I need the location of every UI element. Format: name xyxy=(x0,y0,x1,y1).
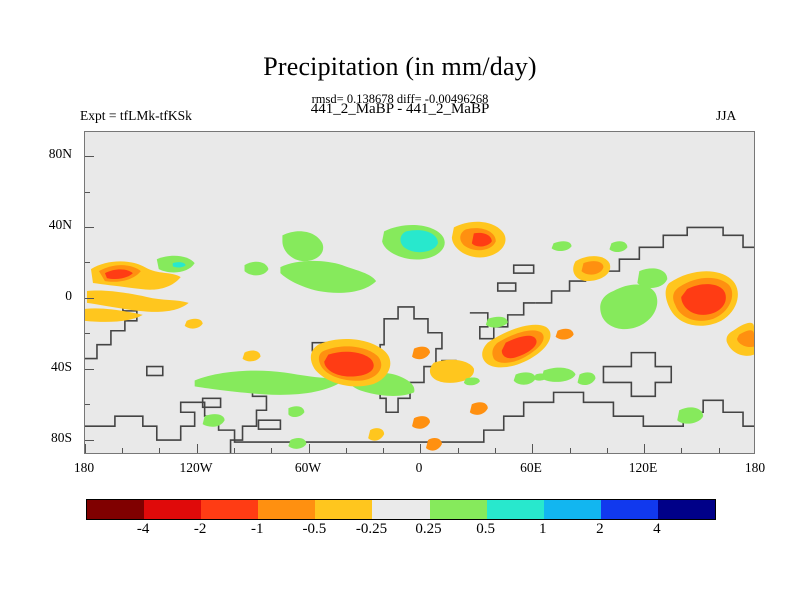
x-axis-label-0: 0 xyxy=(384,460,454,476)
x-tick-60E xyxy=(532,444,533,453)
colorbar-labels: -4-2-1-0.5-0.250.250.5124 xyxy=(86,521,714,543)
colorbar-tick--4: -4 xyxy=(115,521,171,538)
colorbar-band-1 xyxy=(144,500,201,519)
map-canvas xyxy=(85,132,754,453)
colorbar-tick-0.5: 0.5 xyxy=(458,521,514,538)
colorbar-tick--1: -1 xyxy=(229,521,285,538)
x-tick-minor xyxy=(607,448,608,453)
x-tick-180W xyxy=(85,444,86,453)
colorbar-tick-0.25: 0.25 xyxy=(401,521,457,538)
x-tick-minor xyxy=(159,448,160,453)
x-tick-minor xyxy=(495,448,496,453)
x-axis-label-120E: 120E xyxy=(608,460,678,476)
y-tick-40S xyxy=(85,369,94,370)
x-tick-minor xyxy=(719,448,720,453)
page-title: Precipitation (in mm/day) xyxy=(0,52,800,82)
x-axis-label-180W: 180 xyxy=(49,460,119,476)
y-tick-80N xyxy=(85,156,94,157)
y-axis-label-0: 0 xyxy=(12,288,72,304)
season-label: JJA xyxy=(716,108,736,124)
colorbar-band-4 xyxy=(315,500,372,519)
y-tick-minor xyxy=(85,192,90,193)
colorbar xyxy=(86,499,716,520)
colorbar-band-0 xyxy=(87,500,144,519)
y-tick-minor xyxy=(85,333,90,334)
x-axis-label-180E: 180 xyxy=(720,460,790,476)
y-tick-0 xyxy=(85,298,94,299)
colorbar-tick--0.5: -0.5 xyxy=(286,521,342,538)
y-tick-80S xyxy=(85,440,94,441)
colorbar-band-7 xyxy=(487,500,544,519)
y-axis-label-40N: 40N xyxy=(12,217,72,233)
y-tick-minor xyxy=(85,404,90,405)
x-tick-0 xyxy=(420,444,421,453)
x-tick-minor xyxy=(570,448,571,453)
figure-root: Precipitation (in mm/day) rmsd= 0.138678… xyxy=(0,0,800,600)
colorbar-band-3 xyxy=(258,500,315,519)
colorbar-band-9 xyxy=(601,500,658,519)
y-axis-label-80N: 80N xyxy=(12,146,72,162)
experiment-label: Expt = tfLMk-tfKSk xyxy=(80,108,192,124)
x-tick-minor xyxy=(681,448,682,453)
colorbar-tick-4: 4 xyxy=(629,521,685,538)
map-plot-area xyxy=(84,131,755,454)
colorbar-band-10 xyxy=(658,500,715,519)
colorbar-tick-1: 1 xyxy=(515,521,571,538)
colorbar-tick-2: 2 xyxy=(572,521,628,538)
colorbar-band-5 xyxy=(372,500,429,519)
x-axis-label-60W: 60W xyxy=(273,460,343,476)
x-tick-minor xyxy=(383,448,384,453)
y-tick-40N xyxy=(85,227,94,228)
x-tick-minor xyxy=(346,448,347,453)
x-tick-minor xyxy=(458,448,459,453)
colorbar-tick--0.25: -0.25 xyxy=(343,521,399,538)
y-axis-label-40S: 40S xyxy=(12,359,72,375)
x-axis-label-60E: 60E xyxy=(496,460,566,476)
x-tick-minor xyxy=(271,448,272,453)
colorbar-band-8 xyxy=(544,500,601,519)
y-tick-minor xyxy=(85,262,90,263)
colorbar-band-2 xyxy=(201,500,258,519)
colorbar-tick--2: -2 xyxy=(172,521,228,538)
x-tick-120W xyxy=(197,444,198,453)
x-tick-120E xyxy=(644,444,645,453)
y-axis-label-80S: 80S xyxy=(12,430,72,446)
x-tick-minor xyxy=(234,448,235,453)
x-tick-minor xyxy=(122,448,123,453)
x-axis-label-120W: 120W xyxy=(161,460,231,476)
x-tick-60W xyxy=(309,444,310,453)
anomaly-shading xyxy=(85,222,754,451)
colorbar-band-6 xyxy=(430,500,487,519)
